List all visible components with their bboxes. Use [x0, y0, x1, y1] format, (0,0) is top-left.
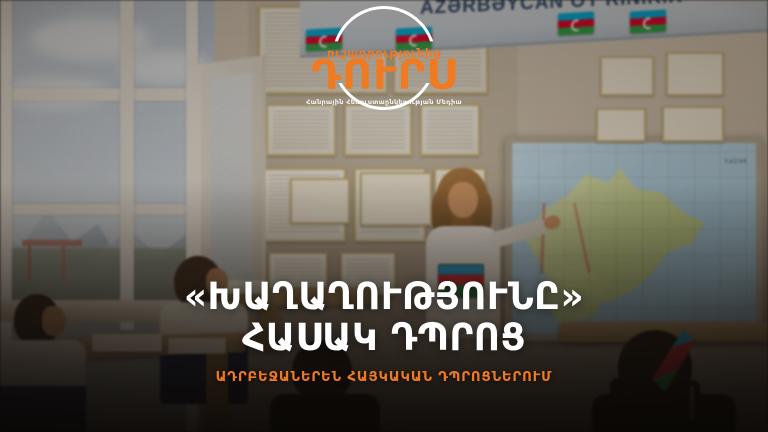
video-thumbnail: HEYDAR AZƏRBƏYCAN OY'RINIKIR XƏZƏR — [0, 0, 768, 432]
media-logo[interactable]: ուշադրությունից ԴՈՒՐՍ Հանրային Հեռուստաը… — [299, 6, 469, 114]
headline-line-1: «ԽԱՂԱՂՈՒԹՅՈՒՆԸ» — [12, 276, 757, 317]
headline-subtitle: ԱԴՐԲԵՋԱՆԵՐԵՆ ՀԱՅԿԱԿԱՆ ԴՊՐՈՑՆԵՐՈՒՄ — [8, 369, 761, 385]
headline-line-2: ՀԱՍԱԿ ԴՊՐՈՑ — [12, 317, 757, 358]
logo-wordmark: ԴՈՒՐՍ — [299, 55, 469, 96]
headline-block: «ԽԱՂԱՂՈՒԹՅՈՒՆԸ» ՀԱՍԱԿ ԴՊՐՈՑ ԱԴՐԲԵՋԱՆԵՐԵՆ… — [0, 276, 768, 385]
logo-tagline: Հանրային Հեռուստաընկերության Մեդիա — [299, 98, 469, 106]
